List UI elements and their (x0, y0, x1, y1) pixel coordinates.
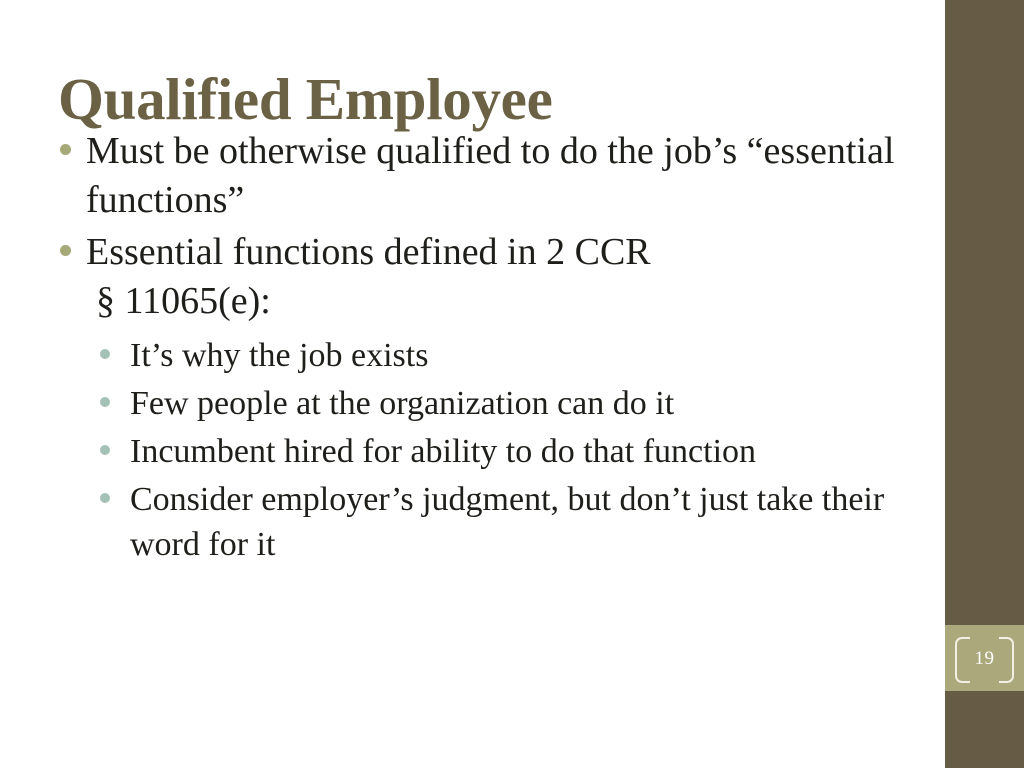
slide-canvas: 19 Qualified Employee Must be otherwise … (0, 0, 1024, 768)
bracket-left-icon (955, 637, 970, 683)
bullet-level2-item: It’s why the job exists (52, 333, 932, 378)
bullet-dot-icon (60, 144, 71, 155)
slide-body: Must be otherwise qualified to do the jo… (52, 127, 932, 571)
bullet-text: Few people at the organization can do it (130, 385, 674, 422)
bullet-text: Must be otherwise qualified to do the jo… (86, 130, 894, 221)
bullet-level2-item: Incumbent hired for ability to do that f… (52, 429, 932, 474)
bullet-dot-icon (100, 445, 110, 455)
bullet-dot-icon (60, 245, 71, 256)
bullet-level2-item: Consider employer’s judgment, but don’t … (52, 477, 932, 567)
bullet-level2-group: It’s why the job exists Few people at th… (52, 333, 932, 568)
page-number-text: 19 (975, 649, 995, 668)
bullet-text: Incumbent hired for ability to do that f… (130, 433, 756, 470)
bullet-level2-item: Few people at the organization can do it (52, 381, 932, 426)
bullet-level1-item: Essential functions defined in 2 CCR § 1… (52, 228, 932, 327)
bracket-right-icon (999, 637, 1014, 683)
page-number-container: 19 (945, 625, 1024, 691)
bullet-text: Essential functions defined in 2 CCR (86, 231, 651, 273)
bullet-dot-icon (100, 493, 110, 503)
bullet-level1-item: Must be otherwise qualified to do the jo… (52, 127, 932, 226)
bullet-text: It’s why the job exists (130, 337, 428, 374)
bullet-dot-icon (100, 349, 110, 359)
bullet-dot-icon (100, 397, 110, 407)
slide-title: Qualified Employee (58, 68, 918, 132)
bullet-text: Consider employer’s judgment, but don’t … (130, 481, 884, 563)
page-number-band: 19 (945, 625, 1024, 691)
bullet-text-continuation: § 11065(e): (86, 277, 932, 326)
